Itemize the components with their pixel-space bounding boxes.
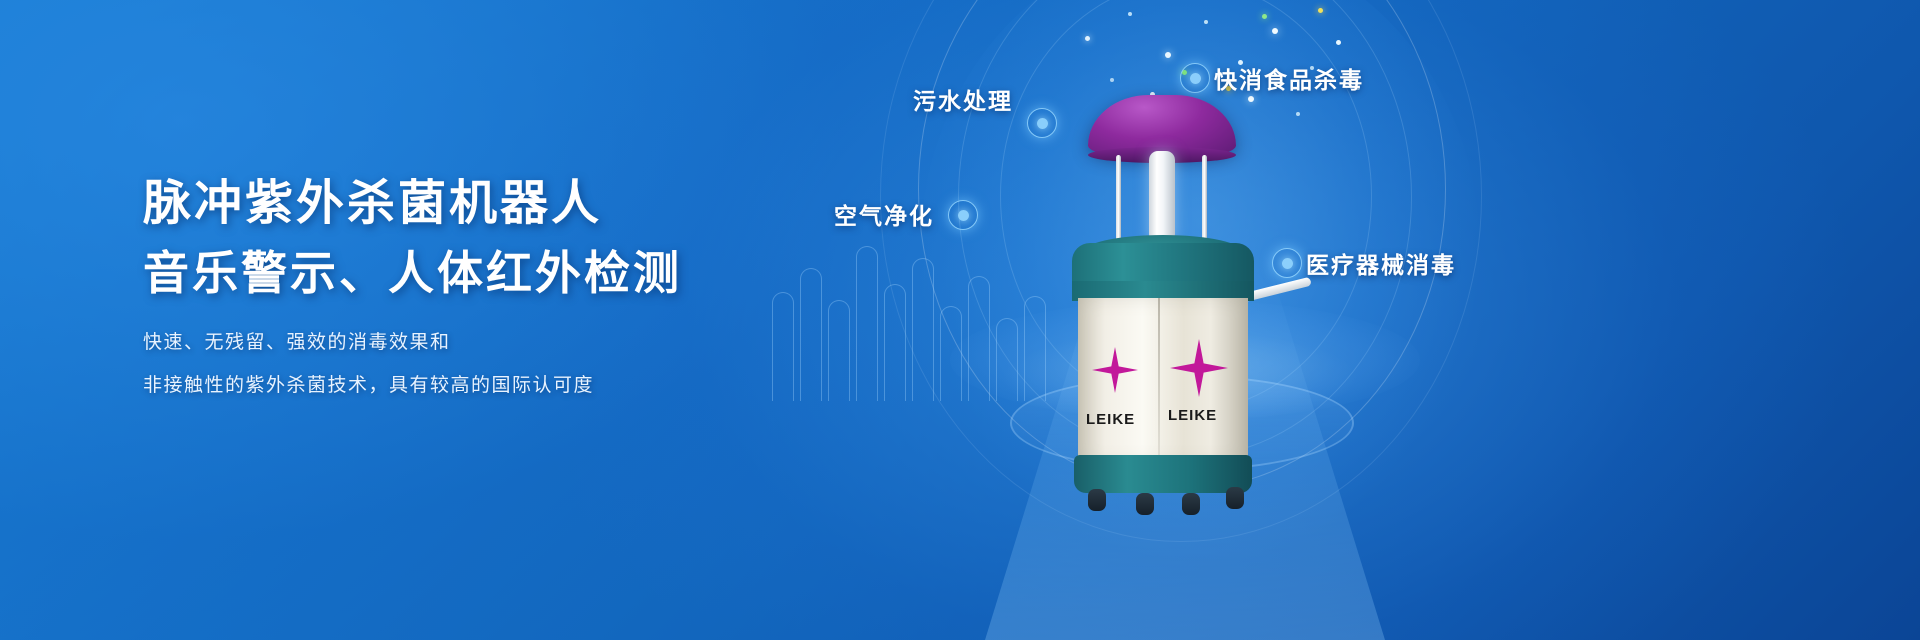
- particle: [1296, 112, 1300, 116]
- particle: [1165, 52, 1171, 58]
- waveform-bar: [884, 284, 906, 401]
- feature-label-medical: 医疗器械消毒: [1306, 246, 1456, 280]
- feature-label-food: 快消食品杀毒: [1214, 61, 1364, 95]
- waveform-bar: [856, 246, 878, 401]
- particle: [1272, 28, 1278, 34]
- particle-green: [1262, 14, 1267, 19]
- brand-wordmark-left: LEIKE: [1086, 411, 1135, 428]
- chassis-lower: [1074, 455, 1252, 493]
- particle-yellow: [1318, 8, 1323, 13]
- lamp-support-rod: [1116, 155, 1121, 245]
- caster-wheel: [1226, 487, 1244, 509]
- waveform-bar: [912, 258, 934, 401]
- subtitle-line-2: 非接触性的紫外杀菌技术，具有较高的国际认可度: [143, 370, 594, 397]
- promo-banner: 污水处理 空气净化 快消食品杀毒 医疗器械消毒 脉冲紫外杀菌机器人 音乐警示、人…: [0, 0, 1920, 640]
- particle: [1110, 78, 1114, 82]
- headline-primary: 脉冲紫外杀菌机器人: [143, 163, 602, 233]
- uv-disinfection-robot: LEIKE LEIKE: [1030, 95, 1290, 495]
- waveform-bar: [940, 306, 962, 401]
- particle: [1336, 40, 1341, 45]
- caster-wheel: [1182, 493, 1200, 515]
- feature-label-wastewater: 污水处理: [913, 82, 1013, 116]
- waveform-bar: [996, 318, 1018, 401]
- subtitle-line-1: 快速、无残留、强效的消毒效果和: [143, 327, 451, 354]
- feature-label-air: 空气净化: [834, 197, 934, 231]
- lamp-support-rod: [1202, 155, 1207, 245]
- uv-lamp-tube: [1149, 151, 1175, 243]
- brand-wordmark-right: LEIKE: [1168, 407, 1217, 424]
- particle: [1085, 36, 1090, 41]
- headline-secondary: 音乐警示、人体红外检测: [143, 237, 682, 303]
- ring-marker-air: [948, 200, 978, 230]
- waveform-bar: [772, 292, 794, 401]
- caster-wheel: [1088, 489, 1106, 511]
- waveform-bar: [800, 268, 822, 401]
- waveform-bar: [828, 300, 850, 401]
- cabinet-body: [1078, 298, 1248, 463]
- particle: [1204, 20, 1208, 24]
- waveform-bar: [968, 276, 990, 401]
- ring-marker-food: [1180, 63, 1210, 93]
- caster-wheel: [1136, 493, 1154, 515]
- cabinet-seam: [1158, 298, 1160, 463]
- particle: [1128, 12, 1132, 16]
